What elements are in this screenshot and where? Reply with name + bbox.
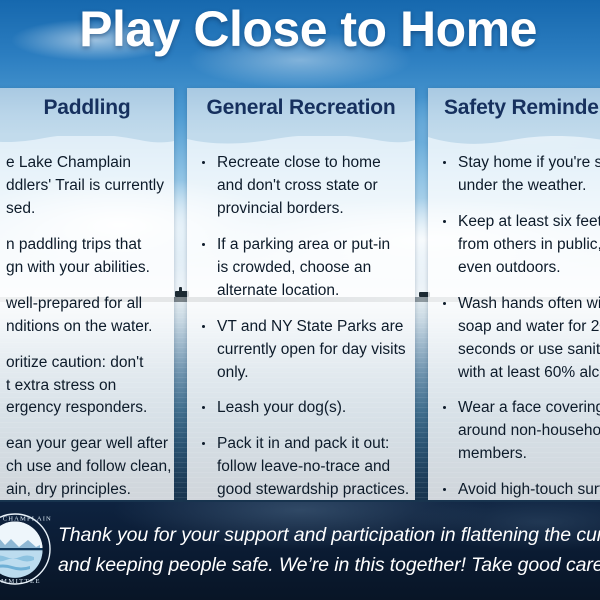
- bullet-line: soap and water for 20: [458, 316, 600, 339]
- bullet-line: Pack it in and pack it out:: [217, 433, 405, 456]
- bullet-line: is crowded, choose an: [217, 257, 405, 280]
- bullet-line: seconds or use sanitizer: [458, 339, 600, 362]
- bullet-item: Wash hands often withsoap and water for …: [438, 293, 600, 385]
- bullet-list-general-recreation: Recreate close to homeand don't cross st…: [197, 152, 405, 500]
- bullet-line: Stay home if you're sick or: [458, 152, 600, 175]
- bullet-item: n paddling trips thatgn with your abilit…: [6, 234, 170, 280]
- bullet-line: If a parking area or put-in: [217, 234, 405, 257]
- bullet-line: oritize caution: don't: [6, 352, 170, 375]
- footer-message-line-1: Thank you for your support and participa…: [58, 521, 600, 551]
- bullet-line: Wear a face covering: [458, 397, 600, 420]
- bullet-item: e Lake Champlainddlers' Trail is current…: [6, 152, 170, 221]
- bullet-line: sed.: [6, 198, 170, 221]
- bullet-line: ergency responders.: [6, 397, 170, 420]
- bullet-line: n paddling trips that: [6, 234, 170, 257]
- bullet-line: e Lake Champlain: [6, 152, 170, 175]
- bullet-line: provincial borders.: [217, 198, 405, 221]
- bullet-item: Wear a face coveringaround non-household…: [438, 397, 600, 466]
- bullet-item: Avoid high-touch surfaces.: [438, 479, 600, 500]
- bullet-line: nditions on the water.: [6, 316, 170, 339]
- page-title: Play Close to Home: [0, 4, 600, 54]
- lake-champlain-committee-logo: LAKE CHAMPLAIN COMMITTEE: [0, 512, 52, 586]
- horizon-silhouette-mast: [179, 287, 182, 292]
- footer-message: Thank you for your support and participa…: [58, 521, 600, 580]
- bullet-line: with at least 60% alcohol.: [458, 362, 600, 385]
- bullet-item: ean your gear well afterch use and follo…: [6, 433, 170, 500]
- bullet-item: well-prepared for allnditions on the wat…: [6, 293, 170, 339]
- card-body-general-recreation: Recreate close to homeand don't cross st…: [187, 136, 415, 500]
- bullet-line: alternate location.: [217, 280, 405, 303]
- bullet-line: good stewardship practices.: [217, 479, 405, 500]
- bullet-dot-icon: [202, 442, 205, 445]
- bullet-line: ddlers' Trail is currently: [6, 175, 170, 198]
- bullet-line: VT and NY State Parks are: [217, 316, 405, 339]
- bullet-item: oritize caution: don'tt extra stress one…: [6, 352, 170, 421]
- bullet-line: from others in public,: [458, 234, 600, 257]
- card-header-general-recreation: General Recreation: [187, 88, 415, 136]
- bullet-line: Avoid high-touch surfaces.: [458, 479, 600, 500]
- bullet-dot-icon: [443, 488, 446, 491]
- bullet-line: well-prepared for all: [6, 293, 170, 316]
- card-paddling: Paddling e Lake Champlainddlers' Trail i…: [0, 88, 174, 500]
- bullet-line: and don't cross state or: [217, 175, 405, 198]
- bullet-list-paddling: e Lake Champlainddlers' Trail is current…: [6, 152, 170, 500]
- bullet-line: ain, dry principles.: [6, 479, 170, 500]
- card-title-safety-reminders: Safety Reminders: [428, 96, 600, 120]
- svg-text:LAKE CHAMPLAIN: LAKE CHAMPLAIN: [0, 516, 52, 523]
- bullet-item: If a parking area or put-inis crowded, c…: [197, 234, 405, 303]
- svg-text:COMMITTEE: COMMITTEE: [0, 578, 41, 585]
- bullet-line: Recreate close to home: [217, 152, 405, 175]
- bullet-line: around non-household: [458, 420, 600, 443]
- bullet-dot-icon: [202, 325, 205, 328]
- bullet-line: only.: [217, 362, 405, 385]
- bullet-line: members.: [458, 443, 600, 466]
- bullet-list-safety-reminders: Stay home if you're sick orunder the wea…: [438, 152, 600, 500]
- bullet-line: t extra stress on: [6, 375, 170, 398]
- bullet-line: follow leave-no-trace and: [217, 456, 405, 479]
- bullet-dot-icon: [202, 161, 205, 164]
- bullet-dot-icon: [443, 220, 446, 223]
- bullet-line: Leash your dog(s).: [217, 397, 405, 420]
- card-title-general-recreation: General Recreation: [187, 96, 415, 120]
- bullet-line: under the weather.: [458, 175, 600, 198]
- bullet-item: Keep at least six feet awayfrom others i…: [438, 211, 600, 280]
- footer-message-line-2: and keeping people safe. We’re in this t…: [58, 551, 600, 581]
- bullet-line: currently open for day visits: [217, 339, 405, 362]
- bullet-item: Leash your dog(s).: [197, 397, 405, 420]
- bullet-line: even outdoors.: [458, 257, 600, 280]
- bullet-dot-icon: [443, 302, 446, 305]
- bullet-line: ean your gear well after: [6, 433, 170, 456]
- card-body-safety-reminders: Stay home if you're sick orunder the wea…: [428, 136, 600, 500]
- card-title-paddling: Paddling: [0, 96, 174, 120]
- card-header-paddling: Paddling: [0, 88, 174, 136]
- bullet-line: Keep at least six feet away: [458, 211, 600, 234]
- bullet-line: Wash hands often with: [458, 293, 600, 316]
- bullet-dot-icon: [202, 243, 205, 246]
- bullet-dot-icon: [443, 161, 446, 164]
- bullet-dot-icon: [202, 406, 205, 409]
- bullet-line: ch use and follow clean,: [6, 456, 170, 479]
- card-body-paddling: e Lake Champlainddlers' Trail is current…: [0, 136, 174, 500]
- card-safety-reminders: Safety Reminders Stay home if you're sic…: [428, 88, 600, 500]
- footer-banner: LAKE CHAMPLAIN COMMITTEE Thank you for y…: [0, 502, 600, 600]
- bullet-item: Pack it in and pack it out:follow leave-…: [197, 433, 405, 500]
- card-general-recreation: General Recreation Recreate close to hom…: [187, 88, 415, 500]
- bullet-item: Recreate close to homeand don't cross st…: [197, 152, 405, 221]
- bullet-item: Stay home if you're sick orunder the wea…: [438, 152, 600, 198]
- bullet-line: gn with your abilities.: [6, 257, 170, 280]
- card-header-safety-reminders: Safety Reminders: [428, 88, 600, 136]
- bullet-item: VT and NY State Parks arecurrently open …: [197, 316, 405, 385]
- poster-root: Play Close to Home Paddling e Lake Champ…: [0, 0, 600, 600]
- bullet-dot-icon: [443, 406, 446, 409]
